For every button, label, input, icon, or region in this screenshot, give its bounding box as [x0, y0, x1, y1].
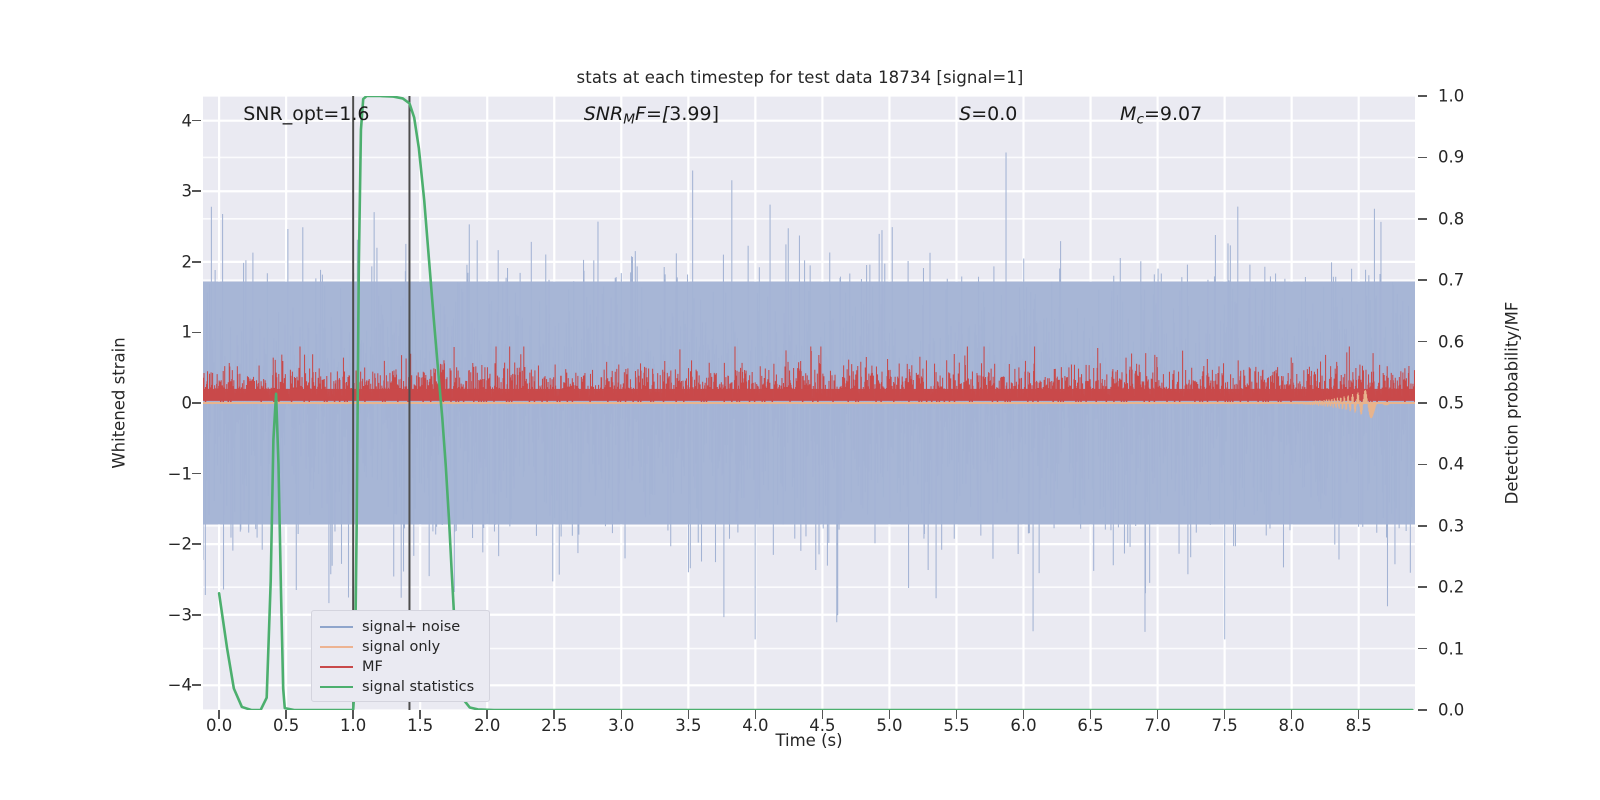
y-tick-label-left: −4 — [168, 676, 192, 695]
y-tick-mark-left — [192, 120, 201, 122]
legend[interactable]: signal+ noisesignal onlyMFsignal statist… — [311, 610, 490, 702]
legend-item[interactable]: signal only — [320, 637, 481, 657]
annotation-s-statistic: S=0.0 — [959, 103, 1017, 125]
y-tick-label-right: 0.4 — [1438, 455, 1464, 474]
y-tick-mark-left — [192, 543, 201, 545]
x-tick-mark — [621, 710, 623, 719]
legend-color-swatch — [320, 626, 353, 628]
y-tick-label-left: 2 — [182, 252, 193, 271]
y-tick-mark-right — [1418, 279, 1427, 281]
x-tick-mark — [688, 710, 690, 719]
x-tick-mark — [1157, 710, 1159, 719]
y-tick-mark-left — [192, 614, 201, 616]
annotation-s-value: =0.0 — [971, 103, 1017, 125]
figure-canvas: stats at each timestep for test data 187… — [0, 0, 1600, 800]
annotation-snr-mf-value: 3.99 — [669, 103, 711, 125]
annotation-snr-mf-sub: M — [623, 111, 635, 127]
x-tick-mark — [755, 710, 757, 719]
legend-item-label: MF — [362, 660, 383, 675]
y-tick-label-right: 0.0 — [1438, 701, 1464, 720]
annotation-snr-mf-suffix: ] — [712, 103, 719, 125]
y-axis-label-right: Detection probability/MF — [1503, 302, 1522, 505]
y-tick-mark-right — [1418, 157, 1427, 159]
page-title: stats at each timestep for test data 187… — [0, 68, 1600, 87]
y-tick-label-left: −1 — [168, 464, 192, 483]
x-tick-mark — [889, 710, 891, 719]
y-tick-label-right: 0.8 — [1438, 209, 1464, 228]
x-tick-mark — [419, 710, 421, 719]
x-tick-mark — [218, 710, 220, 719]
legend-item-label: signal only — [362, 640, 440, 655]
annotation-snr-opt: SNR_opt=1.6 — [243, 103, 369, 125]
x-tick-mark — [1023, 710, 1025, 719]
y-tick-mark-right — [1418, 464, 1427, 466]
y-tick-mark-right — [1418, 402, 1427, 404]
x-tick-mark — [822, 710, 824, 719]
annotation-snr-mf: SNRMF=[3.99] — [584, 103, 719, 127]
legend-item-label: signal+ noise — [362, 620, 460, 635]
x-tick-mark — [486, 710, 488, 719]
legend-color-swatch — [320, 646, 353, 648]
annotation-snr-opt-value: 1.6 — [339, 103, 369, 125]
annotation-snr-opt-text: SNR_opt= — [243, 103, 339, 125]
y-tick-label-left: −2 — [168, 535, 192, 554]
y-tick-mark-right — [1418, 95, 1427, 97]
y-tick-mark-right — [1418, 586, 1427, 588]
y-tick-mark-left — [192, 190, 201, 192]
y-tick-label-left: 4 — [182, 111, 193, 130]
legend-color-swatch — [320, 686, 353, 688]
y-tick-label-left: 0 — [182, 394, 193, 413]
legend-item-label: signal statistics — [362, 680, 474, 695]
y-tick-label-left: 1 — [182, 323, 193, 342]
annotation-mc-prefix: M — [1120, 103, 1136, 125]
y-tick-mark-left — [192, 332, 201, 334]
x-tick-mark — [1358, 710, 1360, 719]
annotation-snr-mf-mid: F=[ — [635, 103, 669, 125]
legend-color-swatch — [320, 666, 353, 668]
x-tick-mark — [1224, 710, 1226, 719]
y-tick-mark-left — [192, 473, 201, 475]
legend-item[interactable]: signal statistics — [320, 677, 481, 697]
y-tick-label-right: 0.7 — [1438, 271, 1464, 290]
y-tick-label-right: 0.1 — [1438, 639, 1464, 658]
y-tick-mark-left — [192, 402, 201, 404]
y-tick-label-right: 0.9 — [1438, 148, 1464, 167]
y-tick-mark-left — [192, 684, 201, 686]
y-tick-label-right: 0.5 — [1438, 394, 1464, 413]
y-tick-label-right: 0.3 — [1438, 516, 1464, 535]
y-tick-mark-right — [1418, 341, 1427, 343]
annotation-snr-mf-prefix: SNR — [584, 103, 623, 125]
annotation-s-prefix: S — [959, 103, 971, 125]
legend-item[interactable]: MF — [320, 657, 481, 677]
legend-item[interactable]: signal+ noise — [320, 617, 481, 637]
annotation-mc-sub: c — [1136, 111, 1144, 127]
x-tick-mark — [553, 710, 555, 719]
x-tick-mark — [956, 710, 958, 719]
y-tick-label-right: 1.0 — [1438, 87, 1464, 106]
y-tick-label-right: 0.6 — [1438, 332, 1464, 351]
y-tick-mark-right — [1418, 525, 1427, 527]
y-tick-label-left: 3 — [182, 182, 193, 201]
y-tick-label-right: 0.2 — [1438, 578, 1464, 597]
y-tick-mark-right — [1418, 648, 1427, 650]
x-tick-mark — [1090, 710, 1092, 719]
x-tick-mark — [1291, 710, 1293, 719]
y-axis-label-left: Whitened strain — [110, 337, 129, 468]
annotation-mc-value: =9.07 — [1144, 103, 1202, 125]
y-tick-mark-right — [1418, 709, 1427, 711]
x-tick-mark — [285, 710, 287, 719]
y-tick-mark-left — [192, 261, 201, 263]
y-tick-mark-right — [1418, 218, 1427, 220]
x-tick-mark — [352, 710, 354, 719]
annotation-chirp-mass: Mc=9.07 — [1120, 103, 1202, 127]
y-tick-label-left: −3 — [168, 605, 192, 624]
